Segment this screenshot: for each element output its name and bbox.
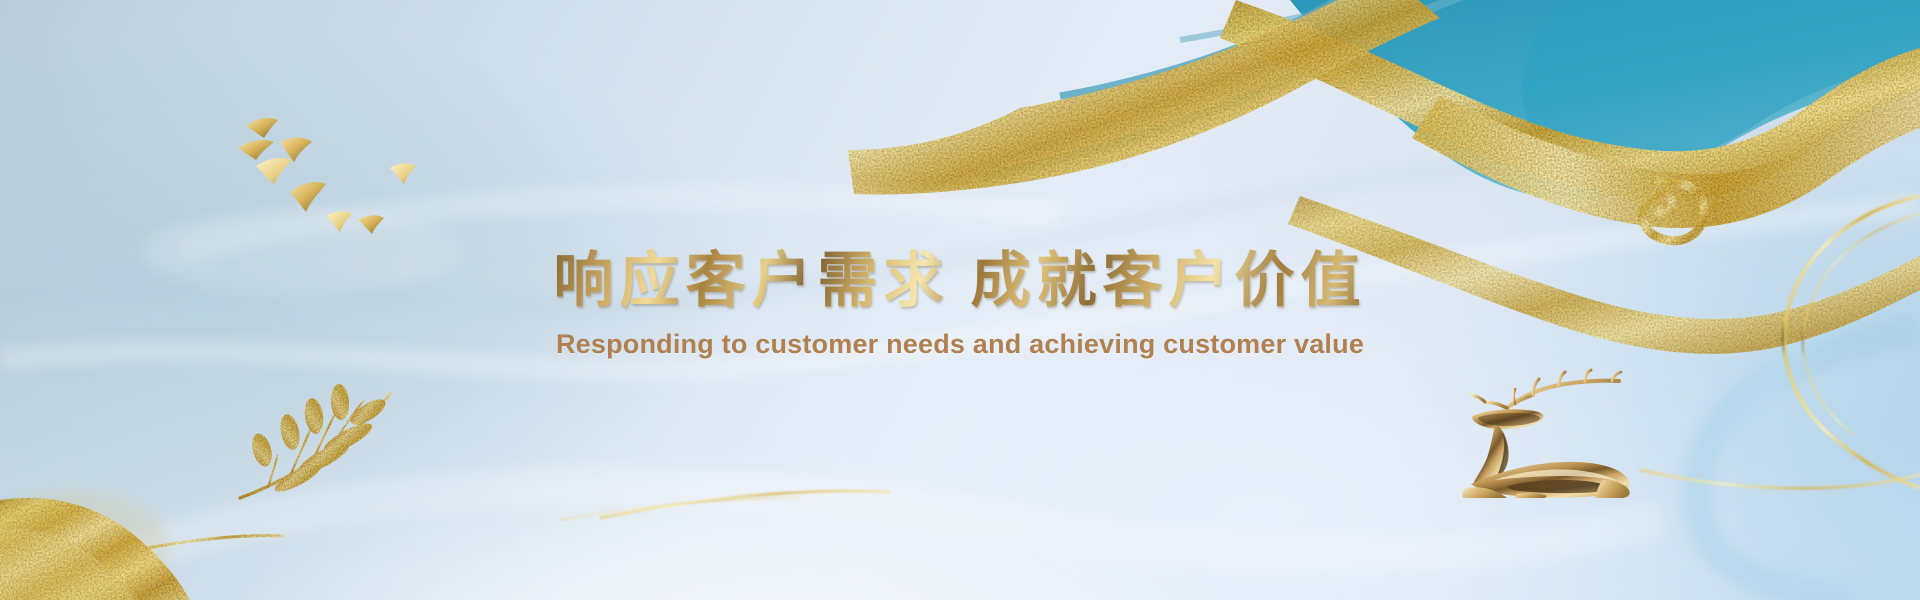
bird (358, 215, 384, 234)
subtitle-wrap: Responding to customer needs and achievi… (0, 315, 1920, 360)
teal-ribbons (980, 0, 1486, 178)
bird (246, 118, 278, 138)
bird (256, 158, 292, 184)
page-subtitle: Responding to customer needs and achievi… (556, 329, 1364, 360)
leaf-branch-body (240, 383, 390, 498)
golden-deer-sculpture (1455, 368, 1645, 498)
bird (290, 182, 326, 212)
banner-text-block: 响应客户需求 成就客户价值 Responding to customer nee… (0, 248, 1920, 360)
page-title: 响应客户需求 成就客户价值 (554, 248, 1367, 315)
headline-wrap: 响应客户需求 成就客户价值 (0, 248, 1920, 315)
gold-cluster-haze (0, 490, 168, 600)
deer-antlers (1472, 370, 1621, 408)
flying-birds-flock (238, 104, 428, 234)
teal-marble-regions (1290, 0, 1920, 200)
bird (238, 140, 274, 160)
hero-banner: 响应客户需求 成就客户价值 Responding to customer nee… (0, 0, 1920, 600)
bird (326, 211, 352, 232)
bird (390, 163, 416, 184)
deer-head (1472, 409, 1543, 429)
gold-glitter-leaf-branch (228, 378, 438, 528)
